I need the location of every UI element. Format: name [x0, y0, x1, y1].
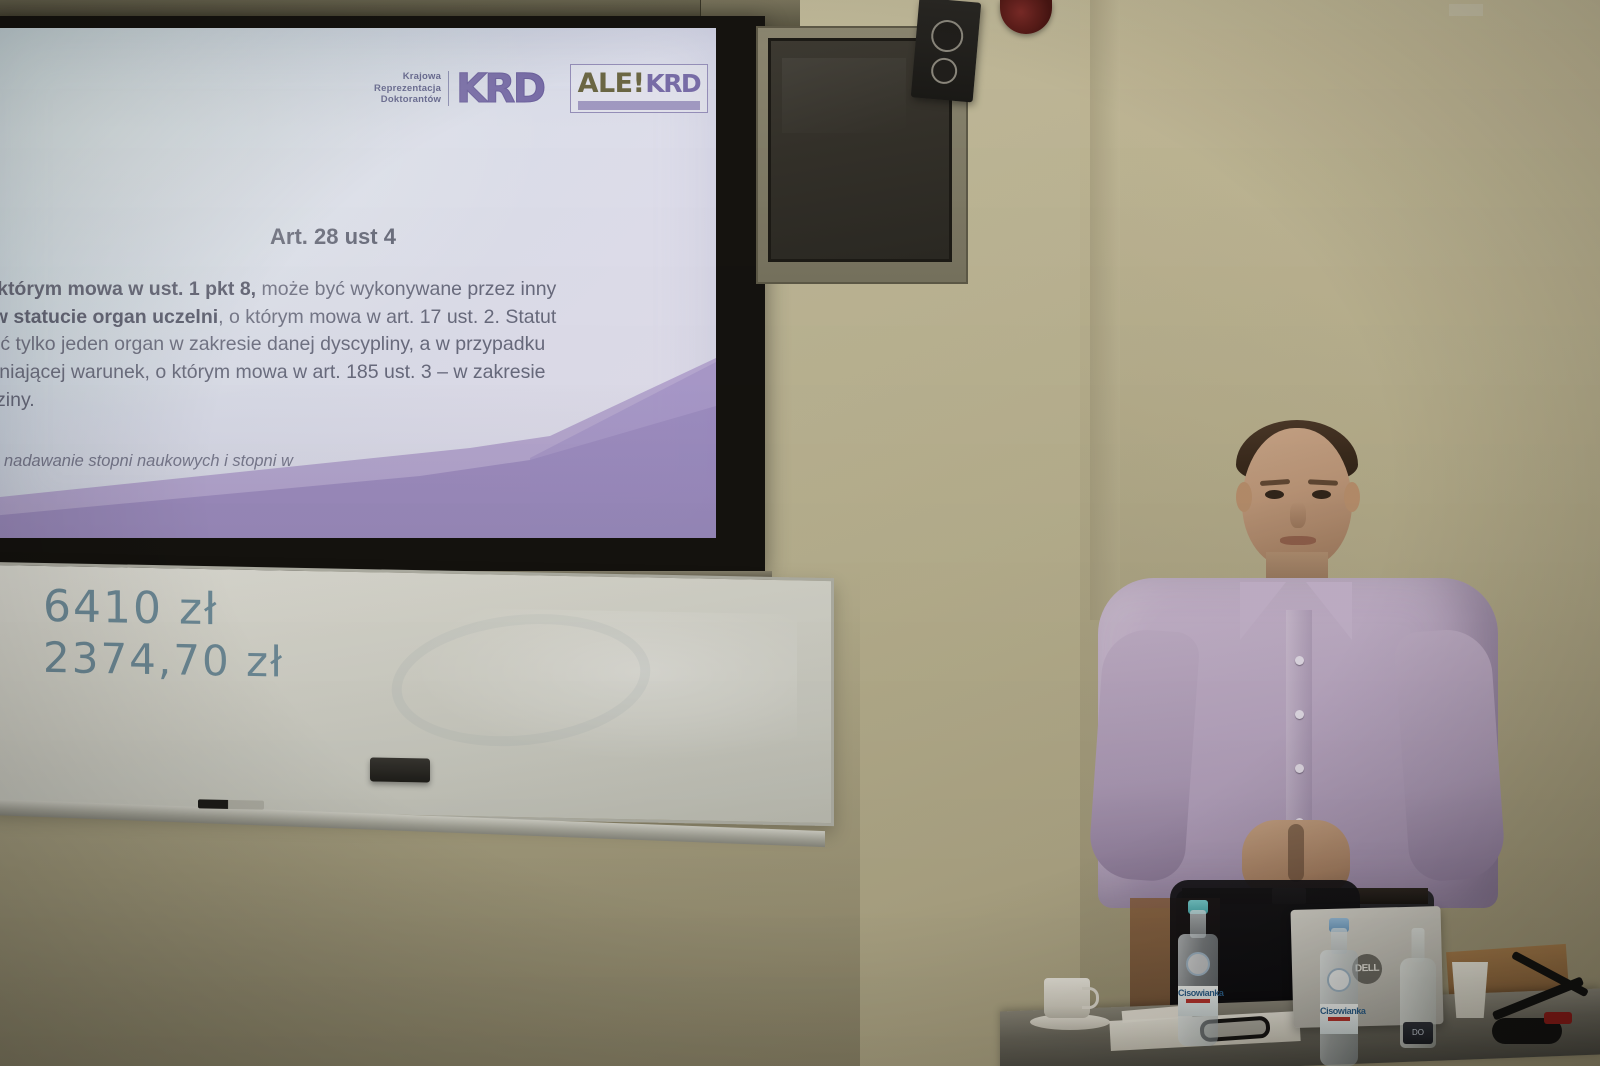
ale-underbar: [578, 101, 700, 110]
bottle-label-2: Cisowianka: [1320, 1004, 1358, 1034]
display-sheen: [782, 58, 907, 132]
plastic-cup[interactable]: [1452, 962, 1488, 1018]
whiteboard-eraser[interactable]: [370, 757, 430, 782]
krd-wordmark: KRD: [456, 66, 544, 112]
whiteboard: 6410 zł 2374,70 zł: [0, 562, 834, 826]
presenter-arm-right: [1393, 627, 1506, 883]
projection-screen-frame: Krajowa Reprezentacja Doktorantów KRD AL…: [0, 16, 765, 572]
presenter-collar-right: [1306, 582, 1352, 640]
slide-body-line-2: reślony w statucie organ uczelni, o któr…: [0, 304, 708, 332]
presenter-ear-right: [1344, 482, 1360, 512]
whiteboard-line-2: 2374,70 zł: [43, 636, 284, 685]
krd-sub-line-3: Doktorantów: [374, 94, 441, 106]
glass-bottle[interactable]: DO: [1400, 928, 1436, 1048]
slide-body-rest-1: może być wykonywane przez inny: [256, 278, 556, 300]
glass-bottle-neck: [1412, 928, 1425, 962]
speaker-driver-lower-icon: [930, 57, 958, 85]
bottle-logo-ring-1: [1186, 952, 1210, 976]
slide-footnote: 8 ust 1 pkt 8) nadawanie stopni naukowyc…: [0, 450, 664, 498]
slide-footnote-line-1: 8 ust 1 pkt 8) nadawanie stopni naukowyc…: [0, 450, 664, 474]
conference-room-photo: Krajowa Reprezentacja Doktorantów KRD AL…: [0, 0, 1600, 1066]
presenter-shirt-button-1: [1295, 656, 1304, 665]
krd-logo-subtitle: Krajowa Reprezentacja Doktorantów: [374, 71, 449, 106]
ceiling-speaker: [911, 0, 981, 103]
krd-sub-line-2: Reprezentacja: [374, 83, 441, 95]
presenter-nose: [1290, 502, 1306, 528]
presenter-shirt-button-3: [1295, 764, 1304, 773]
cable-red-connector: [1544, 1012, 1572, 1024]
bottle-label-stripe-1: [1186, 999, 1210, 1003]
presenter-ear-left: [1236, 482, 1252, 512]
krd-logo: Krajowa Reprezentacja Doktorantów KRD: [374, 66, 544, 112]
slide-body-line-1: danie, o którym mowa w ust. 1 pkt 8, moż…: [0, 276, 708, 304]
slide-footnote-line-2: sie sztuki;: [0, 474, 664, 498]
presenter-arm-left: [1087, 627, 1200, 883]
ale-wordmark: KRD: [645, 69, 700, 98]
cables-bundle: [1490, 960, 1600, 1056]
presenter-eye-right: [1312, 490, 1331, 499]
slide-logo-row: Krajowa Reprezentacja Doktorantów KRD AL…: [374, 64, 708, 113]
slide-title: Art. 28 ust 4: [0, 224, 716, 250]
coffee-cup[interactable]: [1044, 978, 1090, 1018]
slide-body-line-4: zelni spełniającej warunek, o którym mow…: [0, 359, 708, 387]
slide-body: danie, o którym mowa w ust. 1 pkt 8, moż…: [0, 276, 708, 414]
projector-rail-label: [1449, 4, 1483, 16]
glass-bottle-label: DO: [1403, 1022, 1433, 1044]
bottle-brand-2: Cisowianka: [1320, 1006, 1366, 1016]
ale-krd-logo: ALE! KRD: [570, 64, 708, 113]
presenter-hand-gap: [1288, 824, 1304, 882]
presentation-slide: Krajowa Reprezentacja Doktorantów KRD AL…: [0, 28, 716, 538]
presenter-eye-left: [1265, 490, 1284, 499]
presenter-collar-left: [1240, 582, 1286, 640]
slide-body-rest-2: , o którym mowa w art. 17 ust. 2. Statut: [218, 306, 556, 328]
bottle-logo-ring-2: [1327, 968, 1351, 992]
slide-body-line-3: że określić tylko jeden organ w zakresie…: [0, 331, 708, 359]
slide-body-line-5: nej dziedziny.: [0, 387, 708, 415]
water-bottle-2[interactable]: Cisowianka: [1320, 918, 1358, 1066]
speaker-driver-upper-icon: [930, 19, 965, 54]
ale-prefix: ALE!: [578, 68, 645, 99]
presenter-mouth: [1280, 536, 1316, 545]
slide-body-bold-1: danie, o którym mowa w ust. 1 pkt 8,: [0, 278, 256, 300]
presenter-head: [1242, 428, 1352, 568]
presenter-shirt-button-2: [1295, 710, 1304, 719]
whiteboard-line-1: 6410 zł: [43, 584, 284, 635]
slide-body-bold-2: reślony w statucie organ uczelni: [0, 306, 218, 328]
ale-krd-line: ALE! KRD: [578, 68, 700, 99]
whiteboard-writing: 6410 zł 2374,70 zł: [43, 584, 284, 685]
krd-sub-line-1: Krajowa: [374, 71, 441, 83]
bottle-label-1: Cisowianka: [1178, 986, 1218, 1016]
whiteboard-marker[interactable]: [198, 799, 264, 809]
water-bottle-1[interactable]: Cisowianka: [1178, 900, 1218, 1046]
bottle-label-stripe-2: [1328, 1017, 1351, 1021]
bottle-brand-1: Cisowianka: [1178, 988, 1224, 998]
